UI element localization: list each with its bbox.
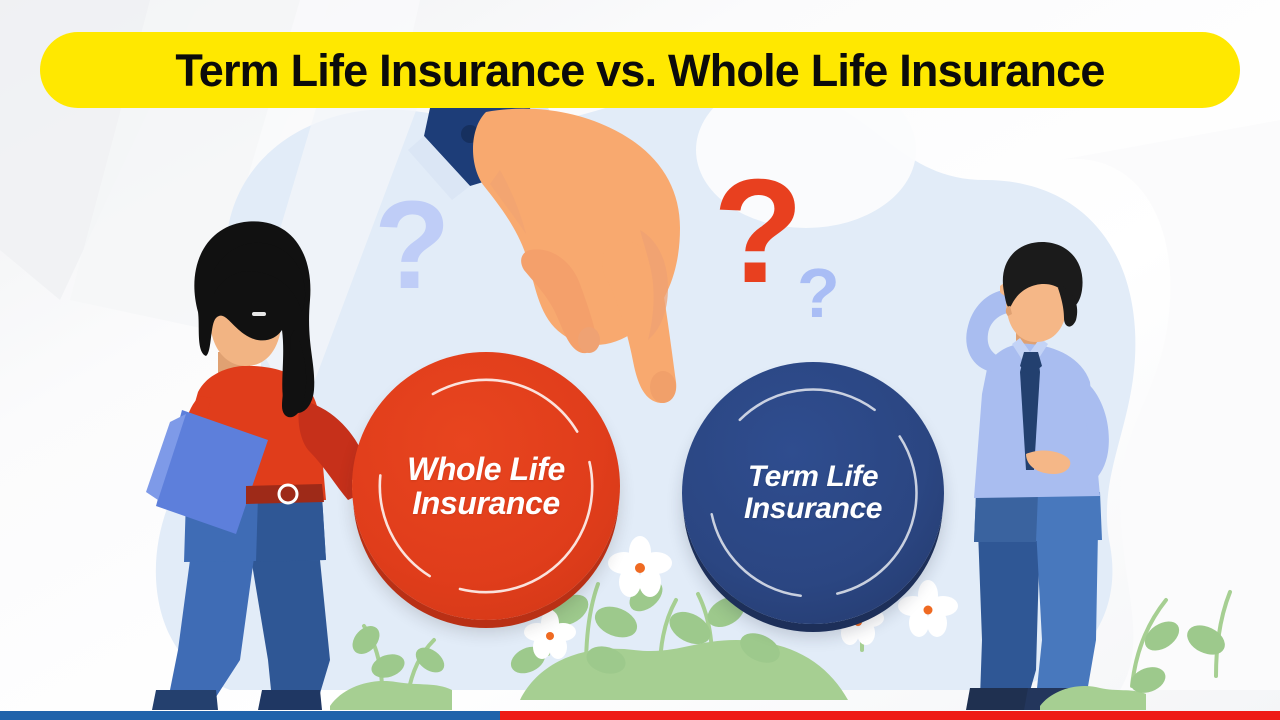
man-figure: [966, 242, 1109, 710]
coin-whole-life-line2: Insurance: [407, 486, 565, 520]
coin-term-life-label: Term Life Insurance: [744, 461, 882, 525]
coin-term-life-insurance[interactable]: Term Life Insurance: [682, 362, 944, 624]
coin-whole-life-line1: Whole Life: [407, 452, 565, 486]
illustration-canvas: ? ? ?: [0, 0, 1280, 720]
coin-term-life-line1: Term Life: [744, 461, 882, 493]
coin-whole-life-insurance[interactable]: Whole Life Insurance: [352, 352, 620, 620]
page-title: Term Life Insurance vs. Whole Life Insur…: [175, 48, 1104, 93]
characters-layer: [0, 0, 1280, 720]
footer-bar-right-red: [500, 711, 1280, 720]
footer-bar-left-blue: [0, 711, 500, 720]
coin-whole-life-label: Whole Life Insurance: [407, 452, 565, 520]
coin-term-life-line2: Insurance: [744, 493, 882, 525]
title-banner: Term Life Insurance vs. Whole Life Insur…: [40, 32, 1240, 108]
